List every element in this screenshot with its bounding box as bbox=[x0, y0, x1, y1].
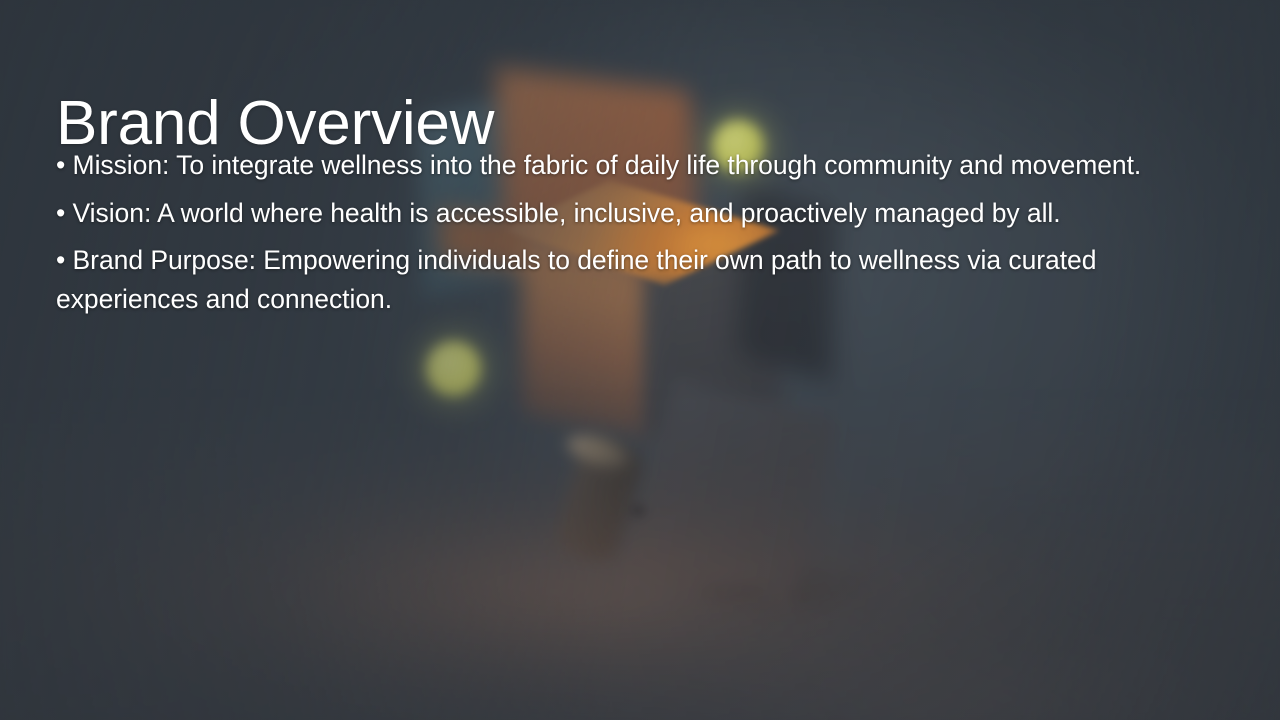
list-item: • Mission: To integrate wellness into th… bbox=[56, 146, 1231, 185]
bullet-item-text: • Brand Purpose: Empowering individuals … bbox=[56, 245, 1096, 314]
bullet-item-text: • Mission: To integrate wellness into th… bbox=[56, 150, 1141, 180]
bullet-item-text: • Vision: A world where health is access… bbox=[56, 198, 1061, 228]
presentation-slide: Brand Overview • Mission: To integrate w… bbox=[0, 0, 1280, 720]
list-item: • Brand Purpose: Empowering individuals … bbox=[56, 241, 1231, 318]
bullet-list: • Mission: To integrate wellness into th… bbox=[56, 146, 1231, 318]
list-item: • Vision: A world where health is access… bbox=[56, 194, 1231, 233]
